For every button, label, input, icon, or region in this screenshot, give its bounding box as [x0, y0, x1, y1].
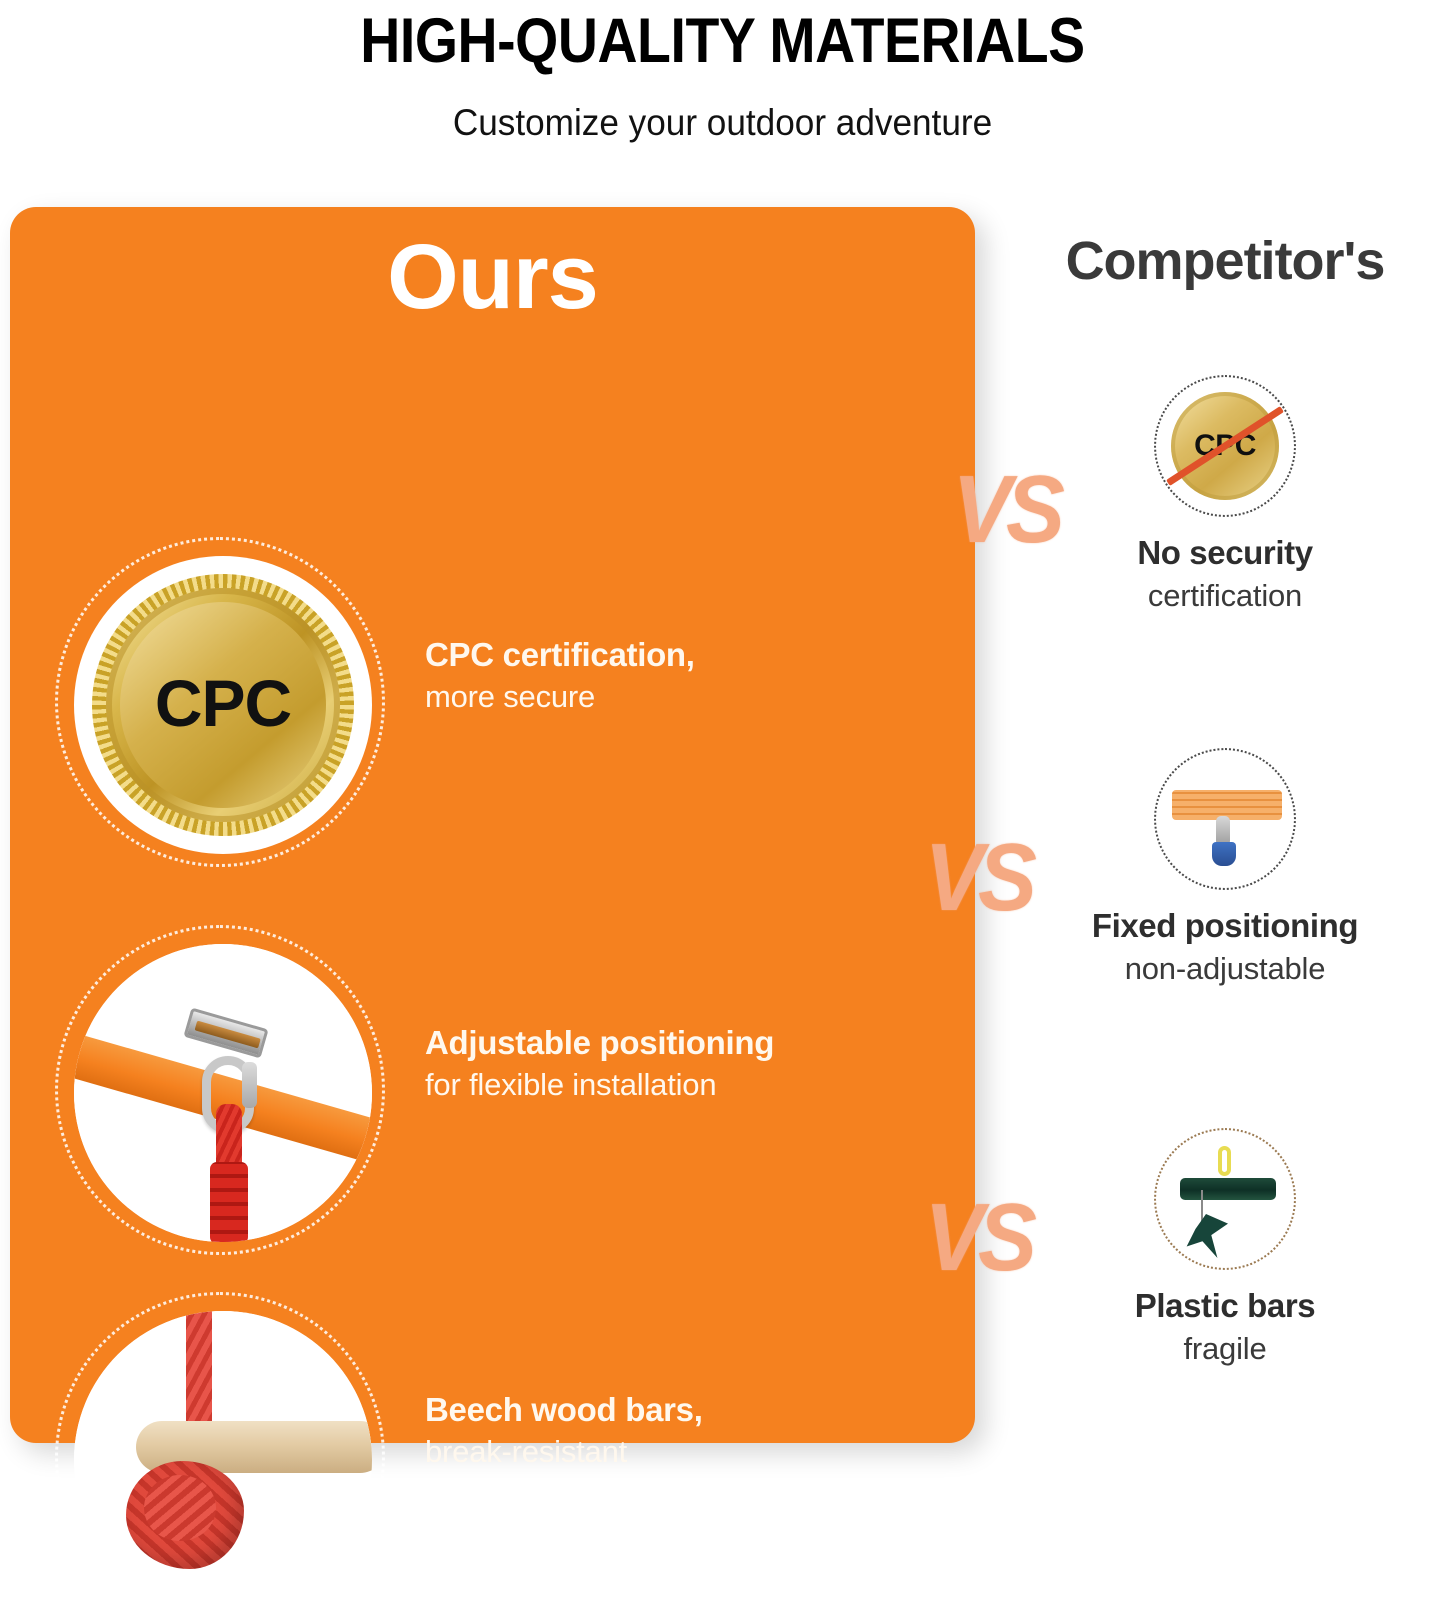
- competitor-panel-title: Competitor's: [1005, 230, 1445, 292]
- competitor-feature-1-line2: certification: [1005, 575, 1445, 617]
- ours-feature-row-2: Adjustable positioning for flexible inst…: [10, 925, 975, 1255]
- competitor-feature-1-line1: No security: [1005, 531, 1445, 575]
- dotted-ring-1: CPC: [55, 537, 385, 867]
- ours-feature-text-3: Beech wood bars, break-resistant: [425, 1388, 955, 1473]
- ours-panel: Ours CPC CPC certification, more secure: [10, 207, 975, 1443]
- dotted-ring-3: [55, 1292, 385, 1622]
- vs-badge-1: VS: [953, 462, 1060, 558]
- crossed-cpc-seal-icon: CPC: [1154, 375, 1296, 517]
- ours-feature-2-line1: Adjustable positioning: [425, 1021, 955, 1064]
- fixed-strap-clip-icon: [1154, 748, 1296, 890]
- competitor-feature-2-line2: non-adjustable: [1005, 948, 1445, 990]
- ours-feature-text-2: Adjustable positioning for flexible inst…: [425, 1021, 955, 1106]
- competitor-feature-3-line2: fragile: [1005, 1328, 1445, 1370]
- wood-bar-rope-icon: [74, 1311, 372, 1609]
- competitor-feature-3-line1: Plastic bars: [1005, 1284, 1445, 1328]
- plastic-bar-hook-icon: [1154, 1128, 1296, 1270]
- cpc-seal-label: CPC: [155, 665, 291, 741]
- cpc-seal-icon: CPC: [74, 556, 372, 854]
- competitor-feature-2-line1: Fixed positioning: [1005, 904, 1445, 948]
- page-title: HIGH-QUALITY MATERIALS: [87, 0, 1359, 77]
- ours-feature-text-1: CPC certification, more secure: [425, 633, 955, 718]
- ours-feature-1-line1: CPC certification,: [425, 633, 955, 676]
- page-subtitle: Customize your outdoor adventure: [36, 77, 1409, 149]
- ours-panel-title: Ours: [10, 227, 975, 327]
- ours-feature-row-3: Beech wood bars, break-resistant: [10, 1292, 975, 1622]
- competitor-feature-row-1: CPC No security certification: [1005, 375, 1445, 617]
- ours-feature-3-line2: break-resistant: [425, 1431, 955, 1473]
- strap-carabiner-icon: [74, 944, 372, 1242]
- ours-feature-3-line1: Beech wood bars,: [425, 1388, 955, 1431]
- dotted-ring-2: [55, 925, 385, 1255]
- page-header: HIGH-QUALITY MATERIALS Customize your ou…: [0, 0, 1445, 195]
- vs-badge-2: VS: [925, 830, 1032, 926]
- competitor-feature-row-3: Plastic bars fragile: [1005, 1128, 1445, 1370]
- ours-feature-2-line2: for flexible installation: [425, 1064, 955, 1106]
- competitor-feature-row-2: Fixed positioning non-adjustable: [1005, 748, 1445, 990]
- ours-feature-1-line2: more secure: [425, 676, 955, 718]
- vs-badge-3: VS: [925, 1190, 1032, 1286]
- ours-feature-row-1: CPC CPC certification, more secure: [10, 537, 975, 867]
